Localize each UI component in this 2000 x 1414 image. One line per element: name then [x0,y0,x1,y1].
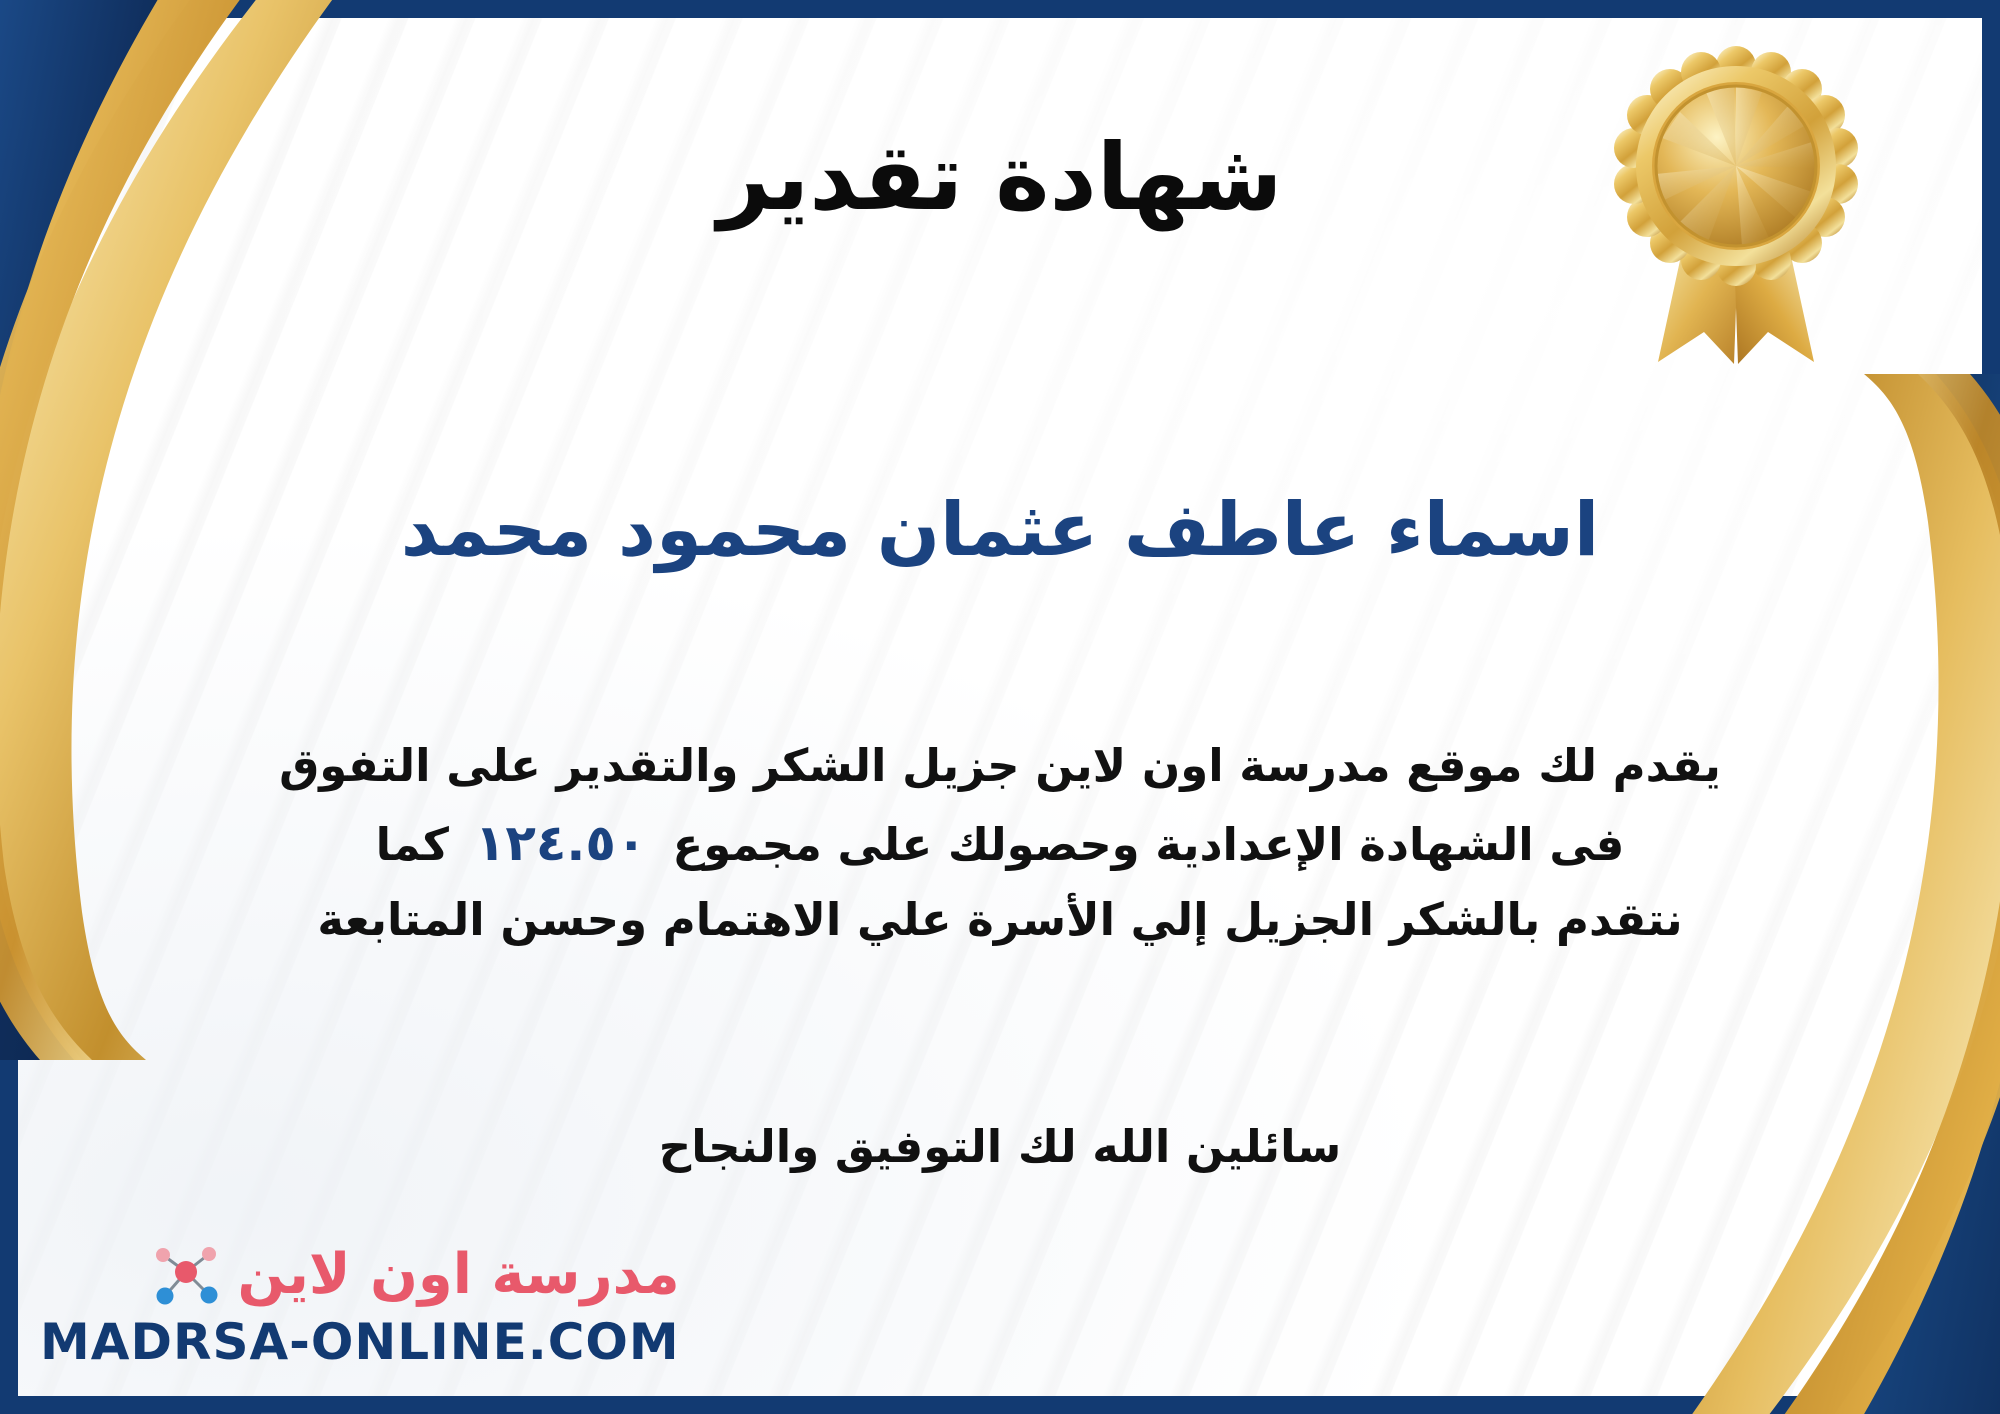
body-line-2-suffix: كما [376,818,449,871]
closing-line: سائلين الله لك التوفيق والنجاح [120,1120,1880,1173]
molecule-network-icon [149,1238,223,1312]
body-line-2-prefix: فى الشهادة الإعدادية وحصولك على مجموع [672,818,1624,871]
certificate-body: يقدم لك موقع مدرسة اون لاين جزيل الشكر و… [130,730,1870,957]
brand-website-url: MADRSA-ONLINE.COM [40,1316,680,1369]
brand-row: مدرسة اون لاين [149,1238,679,1312]
recipient-name: اسماء عاطف عثمان محمود محمد [120,490,1880,571]
brand-arabic-name: مدرسة اون لاين [237,1247,679,1303]
certificate-title: شهادة تقدير [120,128,1880,227]
certificate-canvas: شهادة تقدير اسماء عاطف عثمان محمود محمد … [0,0,2000,1414]
body-line-2: فى الشهادة الإعدادية وحصولك على مجموع١٢٤… [130,803,1870,884]
body-line-3: نتقدم بالشكر الجزيل إلي الأسرة علي الاهت… [130,884,1870,957]
brand-footer: مدرسة اون لاين MADRSA-ONLINE.COM [40,1238,680,1369]
grade-total-value: ١٢٤.٥٠ [449,814,673,872]
certificate-content: شهادة تقدير اسماء عاطف عثمان محمود محمد … [120,0,1880,1414]
body-line-1: يقدم لك موقع مدرسة اون لاين جزيل الشكر و… [130,730,1870,803]
